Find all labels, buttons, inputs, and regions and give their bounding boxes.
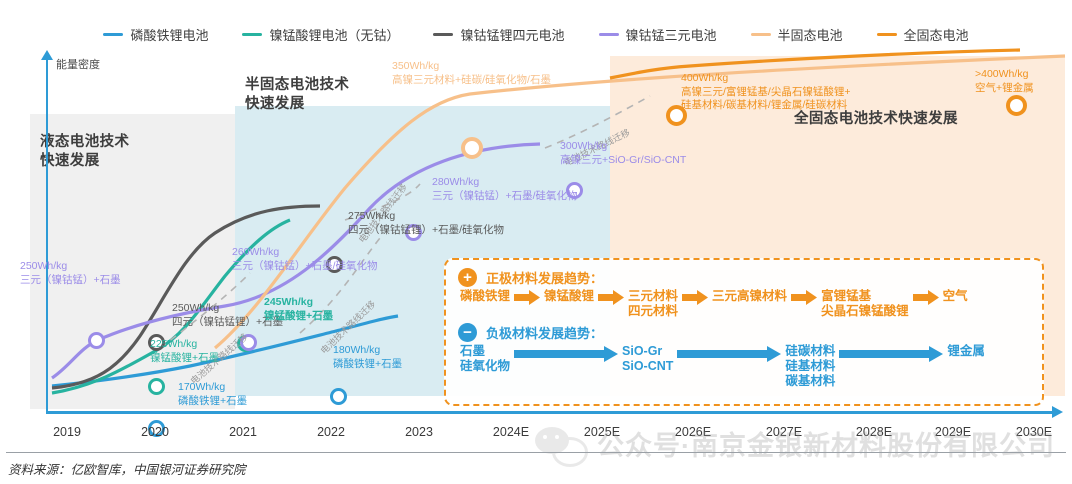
legend-label-ncm: 镍钴锰三元电池 bbox=[626, 25, 717, 44]
datalabel-ncm-250-value: 250Wh/kg bbox=[20, 260, 121, 274]
arrow-right-icon bbox=[514, 346, 618, 362]
point-lnmo-225 bbox=[148, 378, 165, 395]
chart-root: 磷酸铁锂电池 镍锰酸锂电池（无钴） 镍钴锰锂四元电池 镍钴锰三元电池 半固态电池… bbox=[0, 0, 1072, 484]
point-all-solid-400plus bbox=[1006, 95, 1027, 116]
datalabel-semi-solid-350-value: 350Wh/kg bbox=[392, 60, 551, 74]
cathode-header: + 正极材料发展趋势： bbox=[458, 268, 1030, 287]
point-ncm-250 bbox=[88, 332, 105, 349]
datalabel-all-solid-400: 400Wh/kg 高镍三元/富锂锰基/尖晶石镍锰酸锂+ 硅基材料/碳基材料/锂金… bbox=[681, 72, 850, 113]
arrow-right-icon bbox=[677, 346, 781, 362]
source-note: 资料来源：亿欧智库，中国银河证券研究院 bbox=[8, 459, 246, 478]
point-lfp-180 bbox=[330, 388, 347, 405]
datalabel-ncm-260-material: 三元（镍钴锰）+石墨/硅氧化物 bbox=[232, 260, 378, 274]
arrow-right-icon bbox=[839, 346, 943, 362]
arrow-right-icon bbox=[514, 290, 540, 305]
legend-item-quaternary: 镍钴锰锂四元电池 bbox=[433, 25, 564, 44]
cathode-chain: 磷酸铁锂 镍锰酸锂 三元材料 四元材料 三元高镍材料 富锂锰基 尖晶石镍锰酸锂 … bbox=[460, 289, 1030, 319]
footer-divider bbox=[6, 452, 1066, 453]
anode-step-3: 硅碳材料 硅基材料 碳基材料 bbox=[785, 344, 835, 389]
anode-step-4: 锂金属 bbox=[947, 344, 985, 359]
materials-trend-box: + 正极材料发展趋势： 磷酸铁锂 镍锰酸锂 三元材料 四元材料 三元高镍材料 富… bbox=[444, 258, 1044, 406]
x-tick-2019: 2019 bbox=[53, 425, 81, 439]
datalabel-ncm-250-material: 三元（镍钴锰）+石墨 bbox=[20, 274, 121, 288]
datalabel-semi-solid-350: 350Wh/kg 高镍三元材料+硅碳/硅氧化物/石墨 bbox=[392, 60, 551, 87]
datalabel-semi-solid-350-material: 高镍三元材料+硅碳/硅氧化物/石墨 bbox=[392, 74, 551, 88]
legend-label-all-solid: 全固态电池 bbox=[904, 25, 969, 44]
chart-legend: 磷酸铁锂电池 镍锰酸锂电池（无钴） 镍钴锰锂四元电池 镍钴锰三元电池 半固态电池… bbox=[0, 22, 1072, 46]
anode-header: − 负极材料发展趋势： bbox=[458, 323, 1030, 342]
datalabel-lfp-180: 180Wh/kg 磷酸铁锂+石墨 bbox=[333, 344, 402, 371]
cathode-step-1: 磷酸铁锂 bbox=[460, 289, 510, 304]
x-tick-2028E: 2028E bbox=[856, 425, 892, 439]
datalabel-quaternary-275-material: 四元（镍钴锰锂）+石墨/硅氧化物 bbox=[348, 224, 504, 238]
legend-label-lfp: 磷酸铁锂电池 bbox=[130, 25, 208, 44]
x-tick-2023: 2023 bbox=[405, 425, 433, 439]
legend-swatch-quaternary bbox=[433, 33, 453, 36]
datalabel-quaternary-275: 275Wh/kg 四元（镍钴锰锂）+石墨/硅氧化物 bbox=[348, 210, 504, 237]
legend-item-ncm: 镍钴锰三元电池 bbox=[599, 25, 717, 44]
datalabel-lfp-170: 170Wh/kg 磷酸铁锂+石墨 bbox=[178, 381, 247, 408]
x-tick-2022: 2022 bbox=[317, 425, 345, 439]
datalabel-ncm-250: 250Wh/kg 三元（镍钴锰）+石墨 bbox=[20, 260, 121, 287]
x-tick-2030E: 2030E bbox=[1016, 425, 1052, 439]
legend-label-lnmo: 镍锰酸锂电池（无钴） bbox=[269, 25, 399, 44]
legend-swatch-ncm bbox=[599, 33, 619, 36]
x-tick-2026E: 2026E bbox=[675, 425, 711, 439]
cathode-title: 正极材料发展趋势： bbox=[486, 268, 603, 287]
datalabel-ncm-300: 300Wh/kg 高镍三元+SiO-Gr/SiO-CNT bbox=[560, 140, 686, 167]
x-axis-ticks: 2019 2020 2021 2022 2023 2024E 2025E 202… bbox=[0, 425, 1072, 445]
legend-item-lfp: 磷酸铁锂电池 bbox=[103, 25, 208, 44]
cathode-step-4: 三元高镍材料 bbox=[712, 289, 787, 304]
datalabel-lfp-170-material: 磷酸铁锂+石墨 bbox=[178, 395, 247, 409]
anode-step-2: SiO-Gr SiO-CNT bbox=[622, 344, 673, 374]
anode-step-1: 石墨 硅氧化物 bbox=[460, 344, 510, 374]
datalabel-all-solid-400-value: 400Wh/kg bbox=[681, 72, 850, 86]
x-tick-2029E: 2029E bbox=[935, 425, 971, 439]
cathode-step-6: 空气 bbox=[943, 289, 968, 304]
point-semi-solid-350 bbox=[461, 137, 483, 159]
arrow-right-icon bbox=[913, 290, 939, 305]
arrow-right-icon bbox=[791, 290, 817, 305]
datalabel-lnmo-245: 245Wh/kg 镍锰酸锂+石墨 bbox=[264, 296, 333, 323]
x-tick-2024E: 2024E bbox=[493, 425, 529, 439]
arrow-right-icon bbox=[598, 290, 624, 305]
x-tick-2020: 2020 bbox=[141, 425, 169, 439]
datalabel-lnmo-225-value: 225Wh/kg bbox=[150, 338, 219, 352]
datalabel-lfp-170-value: 170Wh/kg bbox=[178, 381, 247, 395]
legend-swatch-lnmo bbox=[242, 33, 262, 36]
datalabel-all-solid-400-material1: 高镍三元/富锂锰基/尖晶石镍锰酸锂+ bbox=[681, 86, 850, 100]
datalabel-all-solid-400plus-value: >400Wh/kg bbox=[975, 68, 1034, 82]
datalabel-lnmo-245-value: 245Wh/kg bbox=[264, 296, 333, 310]
legend-swatch-semi-solid bbox=[751, 33, 771, 36]
cathode-step-5: 富锂锰基 尖晶石镍锰酸锂 bbox=[821, 289, 909, 319]
legend-item-lnmo: 镍锰酸锂电池（无钴） bbox=[242, 25, 399, 44]
datalabel-quaternary-275-value: 275Wh/kg bbox=[348, 210, 504, 224]
cathode-step-3: 三元材料 四元材料 bbox=[628, 289, 678, 319]
datalabel-lnmo-245-material: 镍锰酸锂+石墨 bbox=[264, 310, 333, 324]
datalabel-ncm-260-value: 260Wh/kg bbox=[232, 246, 378, 260]
cathode-step-2: 镍锰酸锂 bbox=[544, 289, 594, 304]
datalabel-ncm-300-material: 高镍三元+SiO-Gr/SiO-CNT bbox=[560, 154, 686, 168]
legend-swatch-all-solid bbox=[877, 33, 897, 36]
datalabel-ncm-280-value: 280Wh/kg bbox=[432, 176, 578, 190]
legend-label-quaternary: 镍钴锰锂四元电池 bbox=[460, 25, 564, 44]
plus-icon: + bbox=[458, 268, 477, 287]
anode-chain: 石墨 硅氧化物 SiO-Gr SiO-CNT 硅碳材料 硅基材料 碳基材料 锂金… bbox=[460, 344, 1030, 389]
legend-swatch-lfp bbox=[103, 33, 123, 36]
datalabel-ncm-300-value: 300Wh/kg bbox=[560, 140, 686, 154]
arrow-right-icon bbox=[682, 290, 708, 305]
datalabel-all-solid-400plus: >400Wh/kg 空气+锂金属 bbox=[975, 68, 1034, 95]
datalabel-lnmo-225-material: 镍锰酸锂+石墨 bbox=[150, 352, 219, 366]
datalabel-lfp-180-material: 磷酸铁锂+石墨 bbox=[333, 358, 402, 372]
legend-label-semi-solid: 半固态电池 bbox=[778, 25, 843, 44]
datalabel-ncm-280: 280Wh/kg 三元（镍钴锰）+石墨/硅氧化物 bbox=[432, 176, 578, 203]
legend-item-semi-solid: 半固态电池 bbox=[751, 25, 843, 44]
datalabel-ncm-260: 260Wh/kg 三元（镍钴锰）+石墨/硅氧化物 bbox=[232, 246, 378, 273]
x-tick-2027E: 2027E bbox=[766, 425, 802, 439]
datalabel-lnmo-225: 225Wh/kg 镍锰酸锂+石墨 bbox=[150, 338, 219, 365]
datalabel-all-solid-400plus-material: 空气+锂金属 bbox=[975, 82, 1034, 96]
legend-item-all-solid: 全固态电池 bbox=[877, 25, 969, 44]
datalabel-all-solid-400-material2: 硅基材料/碳基材料/锂金属/硅碳材料 bbox=[681, 99, 850, 113]
datalabel-lfp-180-value: 180Wh/kg bbox=[333, 344, 402, 358]
minus-icon: − bbox=[458, 323, 477, 342]
x-tick-2025E: 2025E bbox=[584, 425, 620, 439]
datalabel-ncm-280-material: 三元（镍钴锰）+石墨/硅氧化物 bbox=[432, 190, 578, 204]
anode-title: 负极材料发展趋势： bbox=[486, 323, 603, 342]
x-tick-2021: 2021 bbox=[229, 425, 257, 439]
